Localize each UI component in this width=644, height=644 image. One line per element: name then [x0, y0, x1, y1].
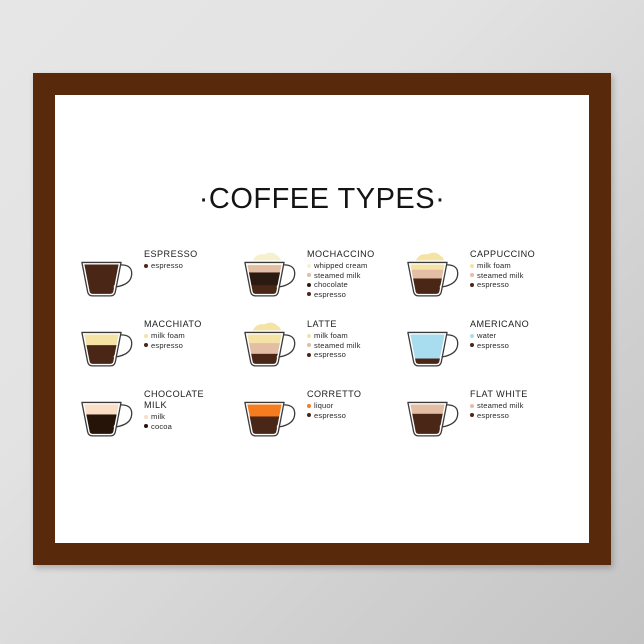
ingredient-list: milkcocoa	[144, 412, 204, 431]
cup-art	[403, 391, 465, 447]
coffee-card[interactable]: MACCHIATOmilk foamespresso	[77, 317, 240, 387]
coffee-name: CAPPUCCINO	[470, 249, 535, 260]
ingredient-list: milk foamsteamed milkespresso	[307, 331, 361, 360]
cup-art	[77, 321, 139, 377]
ingredient-dot-icon	[470, 273, 474, 277]
coffee-card[interactable]: AMERICANOwaterespresso	[403, 317, 566, 387]
ingredient-label: water	[477, 331, 496, 341]
coffee-info: AMERICANOwaterespresso	[470, 317, 529, 350]
coffee-card[interactable]: ESPRESSOespresso	[77, 247, 240, 317]
ingredient-row: espresso	[307, 411, 361, 421]
ingredient-label: espresso	[314, 350, 346, 360]
ingredient-dot-icon	[307, 404, 311, 408]
ingredient-label: whipped cream	[314, 261, 367, 271]
ingredient-dot-icon	[144, 415, 148, 419]
ingredient-label: espresso	[151, 341, 183, 351]
cup-illustration	[240, 321, 302, 372]
coffee-info: LATTEmilk foamsteamed milkespresso	[307, 317, 361, 360]
coffee-name: CHOCOLATE MILK	[144, 389, 204, 411]
ingredient-dot-icon	[470, 404, 474, 408]
ingredient-label: milk foam	[151, 331, 185, 341]
ingredient-row: espresso	[144, 341, 202, 351]
coffee-card[interactable]: CAPPUCCINOmilk foamsteamed milkespresso	[403, 247, 566, 317]
coffee-card[interactable]: LATTEmilk foamsteamed milkespresso	[240, 317, 403, 387]
ingredient-dot-icon	[470, 343, 474, 347]
coffee-info: CORRETTOliquorespresso	[307, 387, 361, 420]
ingredient-list: liquorespresso	[307, 401, 361, 420]
ingredient-row: milk foam	[307, 331, 361, 341]
ingredient-row: chocolate	[307, 280, 375, 290]
cup-illustration	[403, 321, 465, 372]
ingredient-list: waterespresso	[470, 331, 529, 350]
ingredient-label: espresso	[477, 280, 509, 290]
ingredient-row: liquor	[307, 401, 361, 411]
cup-art	[240, 321, 302, 377]
ingredient-list: milk foamsteamed milkespresso	[470, 261, 535, 290]
coffee-info: MOCHACCINOwhipped creamsteamed milkchoco…	[307, 247, 375, 299]
ingredient-list: milk foamespresso	[144, 331, 202, 350]
coffee-info: ESPRESSOespresso	[144, 247, 198, 271]
ingredient-dot-icon	[307, 292, 311, 296]
cup-illustration	[240, 251, 302, 302]
coffee-info: FLAT WHITEsteamed milkespresso	[470, 387, 528, 420]
ingredient-list: whipped creamsteamed milkchocolateespres…	[307, 261, 375, 299]
ingredient-dot-icon	[144, 343, 148, 347]
ingredient-label: milk foam	[314, 331, 348, 341]
ingredient-row: water	[470, 331, 529, 341]
ingredient-dot-icon	[307, 264, 311, 268]
ingredient-row: espresso	[470, 411, 528, 421]
ingredient-row: steamed milk	[307, 341, 361, 351]
ingredient-dot-icon	[144, 334, 148, 338]
cup-art	[403, 321, 465, 377]
cup-art	[77, 251, 139, 307]
ingredient-label: espresso	[151, 261, 183, 271]
ingredient-dot-icon	[307, 413, 311, 417]
cup-illustration	[403, 251, 465, 302]
coffee-name: ESPRESSO	[144, 249, 198, 260]
ingredient-dot-icon	[307, 334, 311, 338]
coffee-name: MOCHACCINO	[307, 249, 375, 260]
cup-art	[240, 251, 302, 307]
cup-illustration	[403, 391, 465, 442]
ingredient-row: espresso	[144, 261, 198, 271]
ingredient-row: whipped cream	[307, 261, 375, 271]
ingredient-label: milk foam	[477, 261, 511, 271]
ingredient-row: espresso	[307, 350, 361, 360]
poster-frame: ·COFFEE TYPES· ESPRESSOespressoMOCHACCIN…	[33, 73, 611, 565]
ingredient-row: cocoa	[144, 422, 204, 432]
cup-illustration	[77, 251, 139, 302]
ingredient-dot-icon	[307, 343, 311, 347]
ingredient-row: steamed milk	[470, 271, 535, 281]
cup-illustration	[77, 321, 139, 372]
coffee-grid: ESPRESSOespressoMOCHACCINOwhipped creams…	[77, 247, 567, 457]
ingredient-label: steamed milk	[477, 401, 524, 411]
ingredient-label: cocoa	[151, 422, 172, 432]
ingredient-label: steamed milk	[314, 271, 361, 281]
ingredient-dot-icon	[307, 283, 311, 287]
ingredient-dot-icon	[470, 334, 474, 338]
ingredient-label: liquor	[314, 401, 333, 411]
ingredient-dot-icon	[307, 273, 311, 277]
ingredient-dot-icon	[470, 283, 474, 287]
ingredient-row: milk foam	[144, 331, 202, 341]
ingredient-list: steamed milkespresso	[470, 401, 528, 420]
coffee-card[interactable]: FLAT WHITEsteamed milkespresso	[403, 387, 566, 457]
coffee-info: MACCHIATOmilk foamespresso	[144, 317, 202, 350]
coffee-info: CHOCOLATE MILKmilkcocoa	[144, 387, 204, 431]
ingredient-row: milk	[144, 412, 204, 422]
coffee-name: LATTE	[307, 319, 361, 330]
coffee-name: AMERICANO	[470, 319, 529, 330]
coffee-name: MACCHIATO	[144, 319, 202, 330]
coffee-name: CORRETTO	[307, 389, 361, 400]
poster-scene: ·COFFEE TYPES· ESPRESSOespressoMOCHACCIN…	[0, 0, 644, 644]
ingredient-row: steamed milk	[470, 401, 528, 411]
ingredient-label: steamed milk	[314, 341, 361, 351]
ingredient-dot-icon	[144, 424, 148, 428]
ingredient-label: espresso	[314, 411, 346, 421]
cup-art	[403, 251, 465, 307]
ingredient-list: espresso	[144, 261, 198, 271]
coffee-name: FLAT WHITE	[470, 389, 528, 400]
coffee-card[interactable]: CORRETTOliquorespresso	[240, 387, 403, 457]
ingredient-label: milk	[151, 412, 165, 422]
ingredient-row: espresso	[470, 280, 535, 290]
ingredient-label: espresso	[477, 411, 509, 421]
ingredient-label: chocolate	[314, 280, 348, 290]
ingredient-dot-icon	[307, 353, 311, 357]
coffee-info: CAPPUCCINOmilk foamsteamed milkespresso	[470, 247, 535, 290]
cup-art	[240, 391, 302, 447]
ingredient-row: milk foam	[470, 261, 535, 271]
ingredient-dot-icon	[470, 413, 474, 417]
cup-illustration	[240, 391, 302, 442]
page-title: ·COFFEE TYPES·	[55, 183, 589, 216]
ingredient-row: espresso	[470, 341, 529, 351]
ingredient-dot-icon	[470, 264, 474, 268]
ingredient-row: steamed milk	[307, 271, 375, 281]
ingredient-row: espresso	[307, 290, 375, 300]
ingredient-dot-icon	[144, 264, 148, 268]
ingredient-label: steamed milk	[477, 271, 524, 281]
cup-illustration	[77, 391, 139, 442]
coffee-card[interactable]: CHOCOLATE MILKmilkcocoa	[77, 387, 240, 457]
ingredient-label: espresso	[477, 341, 509, 351]
cup-art	[77, 391, 139, 447]
coffee-card[interactable]: MOCHACCINOwhipped creamsteamed milkchoco…	[240, 247, 403, 317]
ingredient-label: espresso	[314, 290, 346, 300]
poster-canvas: ·COFFEE TYPES· ESPRESSOespressoMOCHACCIN…	[55, 95, 589, 543]
